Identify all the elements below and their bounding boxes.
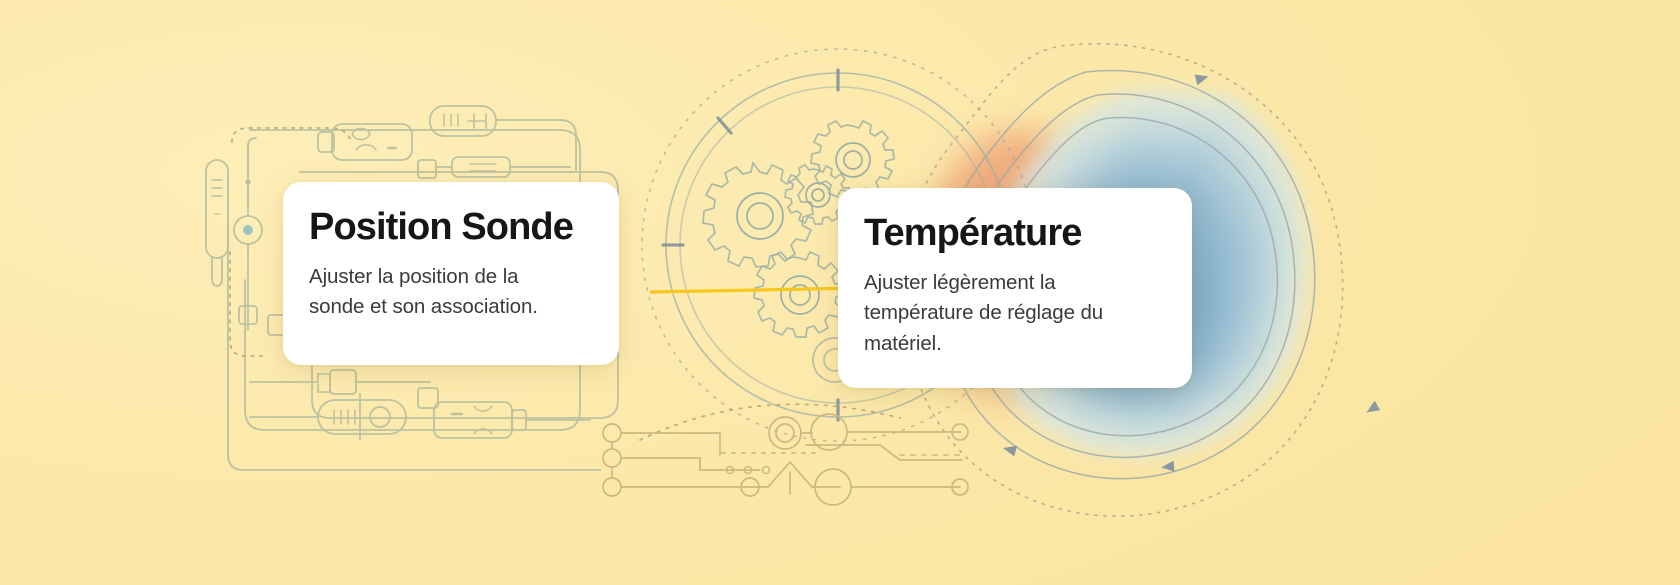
card-body: Ajuster la position de la sonde et son a… bbox=[309, 262, 571, 323]
illustration-canvas: Position Sonde Ajuster la position de la… bbox=[0, 0, 1680, 585]
card-temperature[interactable]: Température Ajuster légèrement la tempér… bbox=[838, 188, 1192, 388]
accent-line bbox=[650, 288, 860, 292]
circuit-trace-line-art bbox=[603, 404, 968, 505]
card-body: Ajuster légèrement la température de rég… bbox=[864, 268, 1156, 359]
card-position-sonde[interactable]: Position Sonde Ajuster la position de la… bbox=[283, 182, 619, 365]
card-title: Position Sonde bbox=[309, 208, 589, 248]
dial-ticks bbox=[663, 70, 838, 420]
card-title: Température bbox=[864, 214, 1162, 254]
